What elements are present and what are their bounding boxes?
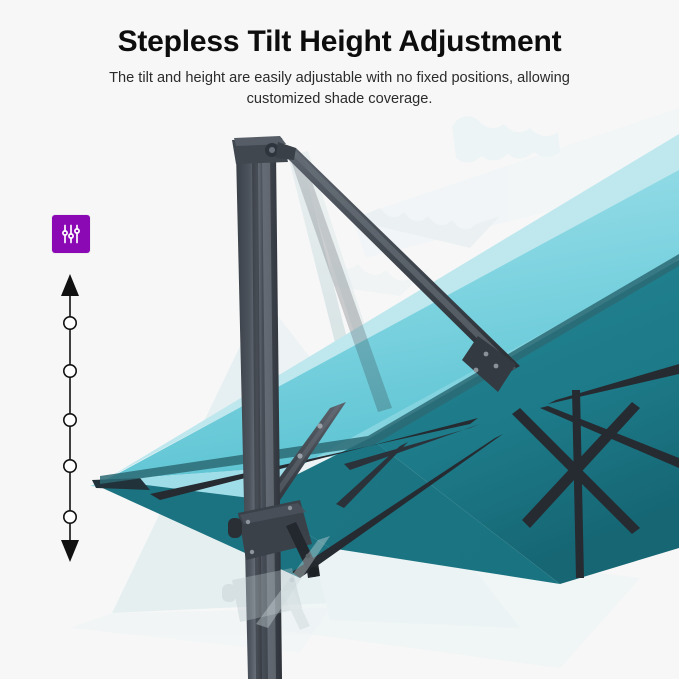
height-stop xyxy=(64,365,76,377)
double-arrow-vertical-icon xyxy=(61,274,79,562)
arrow-head-down xyxy=(61,540,79,562)
height-stop xyxy=(64,460,76,472)
marketing-feature-panel: Stepless Tilt Height Adjustment The tilt… xyxy=(0,0,679,679)
height-stop xyxy=(64,414,76,426)
arrow-head-up xyxy=(61,274,79,296)
height-stop xyxy=(64,317,76,329)
sliders-icon xyxy=(59,222,83,246)
sliders-badge xyxy=(52,215,90,253)
product-photo xyxy=(0,108,679,679)
subtitle-line-1: The tilt and height are easily adjustabl… xyxy=(109,70,513,86)
height-stop xyxy=(64,511,76,523)
height-adjust-axis xyxy=(42,272,98,564)
page-title: Stepless Tilt Height Adjustment xyxy=(0,22,679,62)
page-subtitle: The tilt and height are easily adjustabl… xyxy=(92,68,587,110)
ghost-valance-scallop xyxy=(452,116,560,162)
